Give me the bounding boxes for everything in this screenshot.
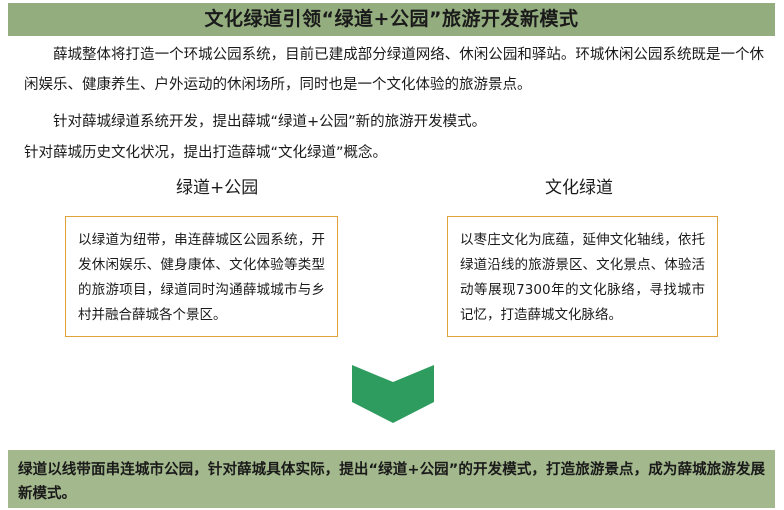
approach-paragraph-1: 针对薛城绿道系统开发，提出薛城“绿道+公园”新的旅游开发模式。 [24, 107, 764, 138]
text-box-greenway-park-body: 以绿道为纽带，串连薛城区公园系统，开发休闲娱乐、健身康体、文化体验等类型的旅游项… [78, 228, 325, 328]
intro-paragraph-1: 薛城整体将打造一个环城公园系统，目前已建成部分绿道网络、休闲公园和驿站。环城休闲… [24, 40, 764, 100]
column-heading-cultural-greenway: 文化绿道 [545, 180, 613, 197]
slide-canvas: 文化绿道引领“绿道+公园”旅游开发新模式 薛城整体将打造一个环城公园系统，目前已… [0, 0, 784, 510]
intro-block: 薛城整体将打造一个环城公园系统，目前已建成部分绿道网络、休闲公园和驿站。环城休闲… [24, 40, 764, 100]
approach-paragraph-2: 针对薛城历史文化状况，提出打造薛城“文化绿道”概念。 [24, 138, 764, 169]
title-banner: 文化绿道引领“绿道+公园”旅游开发新模式 [8, 3, 775, 36]
text-box-greenway-park: 以绿道为纽带，串连薛城区公园系统，开发休闲娱乐、健身康体、文化体验等类型的旅游项… [65, 216, 338, 337]
down-arrow-icon [352, 365, 434, 423]
conclusion-banner: 绿道以线带面串连城市公园，针对薛城具体实际，提出“绿道+公园”的开发模式，打造旅… [8, 450, 775, 508]
conclusion-text: 绿道以线带面串连城市公园，针对薛城具体实际，提出“绿道+公园”的开发模式，打造旅… [18, 458, 765, 506]
text-box-cultural-greenway: 以枣庄文化为底蕴，延伸文化轴线，依托绿道沿线的旅游景区、文化景点、体验活动等展现… [447, 216, 718, 337]
text-box-cultural-greenway-body: 以枣庄文化为底蕴，延伸文化轴线，依托绿道沿线的旅游景区、文化景点、体验活动等展现… [460, 228, 705, 328]
page-title: 文化绿道引领“绿道+公园”旅游开发新模式 [205, 10, 579, 29]
approach-block: 针对薛城绿道系统开发，提出薛城“绿道+公园”新的旅游开发模式。 针对薛城历史文化… [24, 107, 764, 169]
column-heading-greenway-park: 绿道+公园 [176, 180, 258, 197]
